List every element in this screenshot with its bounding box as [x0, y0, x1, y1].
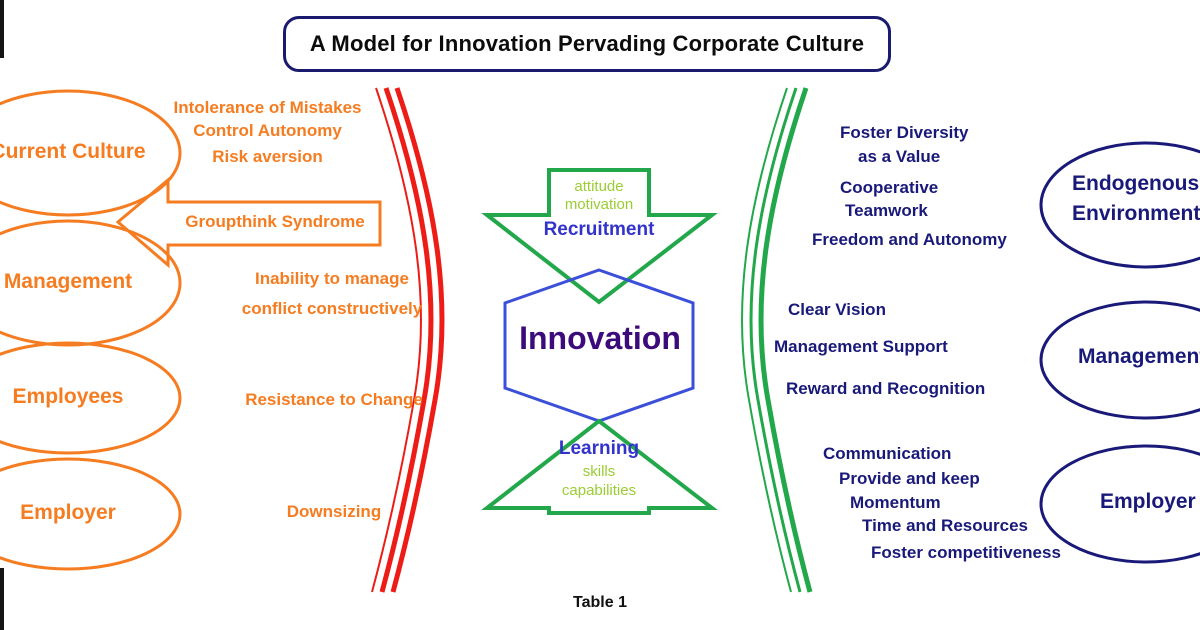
left-ellipse-label-management: Management: [0, 270, 180, 294]
left-ellipse-label-employer: Employer: [0, 501, 180, 525]
title-box: A Model for Innovation Pervading Corpora…: [283, 16, 891, 72]
right-item-foster-competitiveness: Foster competitiveness: [871, 541, 1061, 565]
left-item-risk-aversion: Risk aversion: [155, 145, 380, 168]
right-item-cooperative: Cooperative: [840, 176, 938, 200]
right-item-foster-diversity-line2: as a Value: [858, 145, 940, 169]
right-item-foster-diversity-line1: Foster Diversity: [840, 121, 969, 145]
learning-label: Learning: [509, 438, 689, 460]
right-ellipse-label-environment: Environment: [1072, 202, 1200, 226]
left-item-inability-line2: conflict constructively: [222, 297, 442, 320]
left-item-inability-line1: Inability to manage: [222, 267, 442, 290]
left-edge-artifact-bottom: [0, 568, 4, 630]
groupthink-arrow-label: Groupthink Syndrome: [170, 212, 380, 232]
left-edge-artifact-top: [0, 0, 4, 58]
recruitment-sub-label-line2: motivation: [529, 195, 669, 214]
left-ellipse-label-employees: Employees: [0, 385, 180, 409]
learning-sub-label-line2: capabilities: [529, 481, 669, 500]
right-item-reward-and-recognition: Reward and Recognition: [786, 377, 985, 401]
right-item-clear-vision: Clear Vision: [788, 298, 886, 322]
left-ellipse-label-current-culture: Current Culture: [0, 140, 180, 164]
right-item-management-support: Management Support: [774, 335, 948, 359]
innovation-label: Innovation: [500, 320, 700, 357]
right-ellipse-label-endogenous: Endogenous: [1072, 172, 1199, 196]
left-item-intolerance-of-mistakes: Intolerance of Mistakes: [155, 96, 380, 119]
recruitment-sub-label-line1: attitude: [529, 177, 669, 196]
right-ellipse-label-management: Management: [1078, 345, 1200, 369]
right-item-freedom-and-autonomy: Freedom and Autonomy: [812, 228, 1007, 252]
right-item-teamwork: Teamwork: [845, 199, 928, 223]
left-item-resistance-to-change: Resistance to Change: [224, 388, 444, 411]
right-item-momentum: Momentum: [850, 491, 941, 515]
right-item-provide-and-keep: Provide and keep: [839, 467, 980, 491]
recruitment-label: Recruitment: [509, 219, 689, 241]
right-ellipse-label-employer: Employer: [1100, 490, 1196, 514]
diagram-canvas: A Model for Innovation Pervading Corpora…: [0, 0, 1200, 630]
learning-sub-label-line1: skills: [529, 462, 669, 481]
right-item-communication: Communication: [823, 442, 951, 466]
figure-caption: Table 1: [500, 594, 700, 612]
left-item-downsizing: Downsizing: [224, 500, 444, 523]
right-item-time-and-resources: Time and Resources: [862, 514, 1028, 538]
left-item-control-autonomy: Control Autonomy: [155, 119, 380, 142]
page-title: A Model for Innovation Pervading Corpora…: [310, 31, 864, 57]
